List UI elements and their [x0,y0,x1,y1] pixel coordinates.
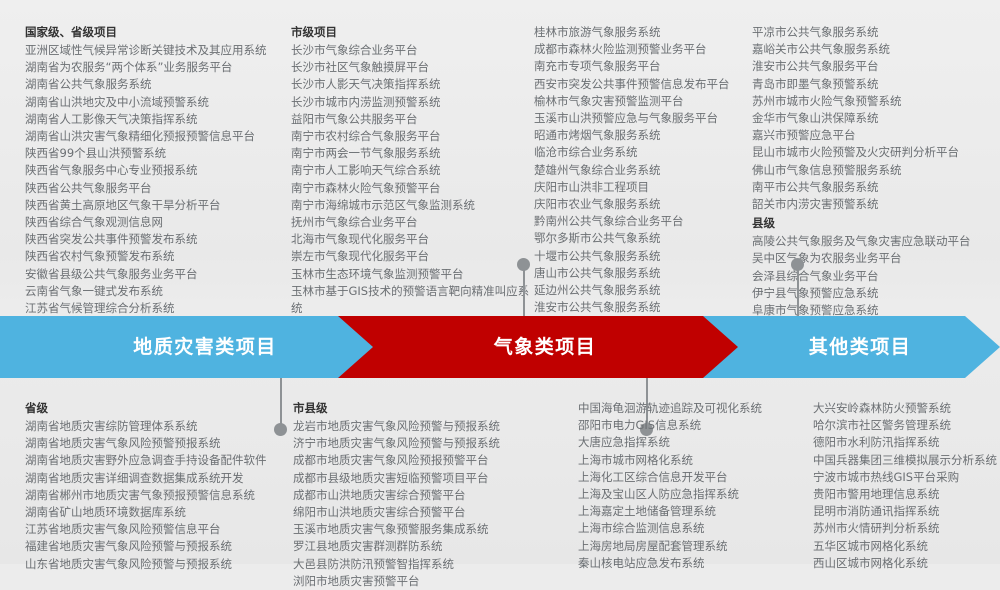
list-item: 大唐应急指挥系统 [578,434,805,451]
list-item: 延边州公共气象服务系统 [534,282,748,299]
list-item: 陕西省综合气象观测信息网 [25,214,285,231]
category-banner: 地质灾害类项目 气象类项目 其他类项目 [0,316,1000,378]
list-item: 江苏省气候管理综合分析系统 [25,300,285,317]
list-item: 成都市县级地质灾害短临预警项目平台 [293,470,570,487]
list-item: 贵阳市警用地理信息系统 [813,486,1000,503]
list-item: 佛山市气象信息预警服务系统 [752,162,1000,179]
list-item: 苏州市火情研判分析系统 [813,520,1000,537]
top-column-municipal: 市级项目 长沙市气象综合业务平台长沙市社区气象触摸屏平台长沙市人影天气决策指挥系… [285,24,530,316]
list-item: 崇左市气象现代化服务平台 [291,248,530,265]
list-item: 江苏省地质灾害气象风险预警信息平台 [25,521,285,538]
list-item: 湖南省矿山地质环境数据库系统 [25,504,285,521]
list-item: 南宁市森林火险气象预警平台 [291,180,530,197]
bottom-column-other-left: 中国海龟洄游轨迹追踪及可视化系统邵阳市电力GIS信息系统大唐应急指挥系统上海市城… [570,400,805,564]
list-item: 哈尔滨市社区警务管理系统 [813,417,1000,434]
list-item: 龙岩市地质灾害气象风险预警与预报系统 [293,418,570,435]
list-item: 金华市气象山洪保障系统 [752,110,1000,127]
list-item: 陕西省99个县山洪预警系统 [25,145,285,162]
column-list: 长沙市气象综合业务平台长沙市社区气象触摸屏平台长沙市人影天气决策指挥系统长沙市城… [291,42,530,334]
list-item: 南平市公共气象服务系统 [752,179,1000,196]
connector-stem [797,268,799,316]
list-item: 湖南省公共气象服务系统 [25,76,285,93]
column-list: 中国海龟洄游轨迹追踪及可视化系统邵阳市电力GIS信息系统大唐应急指挥系统上海市城… [578,400,805,572]
infographic-page: 国家级、省级项目 亚洲区域性气候异常诊断关键技术及其应用系统湖南省为农服务“两个… [0,0,1000,564]
list-item: 陕西省气象服务中心专业预报系统 [25,162,285,179]
list-item: 绵阳市山洪地质灾害综合预警平台 [293,504,570,521]
list-item: 亚洲区域性气候异常诊断关键技术及其应用系统 [25,42,285,59]
column-list: 大兴安岭森林防火预警系统哈尔滨市社区警务管理系统德阳市水利防汛指挥系统中国兵器集… [813,400,1000,572]
list-item: 西山区城市网格化系统 [813,555,1000,572]
list-item: 福建省地质灾害气象风险预警与预报系统 [25,538,285,555]
list-item: 桂林市旅游气象服务系统 [534,24,748,41]
list-item: 大邑县防洪防汛预警智指挥系统 [293,556,570,573]
list-item: 邵阳市电力GIS信息系统 [578,417,805,434]
list-item: 大兴安岭森林防火预警系统 [813,400,1000,417]
list-item: 湖南省地质灾害野外应急调查手持设备配件软件 [25,452,285,469]
banner-label-other: 其他类项目 [735,316,985,378]
list-item: 青岛市即墨气象预警系统 [752,76,1000,93]
bottom-columns-area: 省级 湖南省地质灾害综防管理体系系统湖南省地质灾害气象风险预警预报系统湖南省地质… [0,378,1000,564]
list-item: 宁波市城市热线GIS平台采购 [813,469,1000,486]
list-item: 淮安市公共气象服务系统 [534,299,748,316]
column-list: 亚洲区域性气候异常诊断关键技术及其应用系统湖南省为农服务“两个体系”业务服务平台… [25,42,285,334]
list-item: 玉溪市地质灾害气象预警服务集成系统 [293,521,570,538]
list-item: 十堰市公共气象服务系统 [534,248,748,265]
list-item: 上海嘉定土地储备管理系统 [578,503,805,520]
list-item: 嘉兴市预警应急平台 [752,127,1000,144]
list-item: 罗江县地质灾害群测群防系统 [293,538,570,555]
column-heading: 市县级 [293,400,570,417]
list-item: 上海房地局房屋配套管理系统 [578,538,805,555]
list-item: 安徽省县级公共气象服务业务平台 [25,266,285,283]
list-item: 昭通市烤烟气象服务系统 [534,127,748,144]
list-item: 榆林市气象灾害预警监测平台 [534,93,748,110]
list-item: 庆阳市农业气象服务系统 [534,196,748,213]
list-item: 陕西省黄土高原地区气象干旱分析平台 [25,197,285,214]
list-item: 淮安市公共气象服务平台 [752,58,1000,75]
list-item: 湖南省人工影像天气决策指挥系统 [25,111,285,128]
column-heading: 市级项目 [291,24,530,41]
list-item: 云南省气象一键式发布系统 [25,283,285,300]
column-list-county: 高陵公共气象服务及气象灾害应急联动平台吴中区气象为农服务业务平台会泽县综合气象业… [752,233,1000,319]
list-item: 唐山市公共气象服务系统 [534,265,748,282]
list-item: 上海化工区综合信息开发平台 [578,469,805,486]
bottom-column-city-county: 市县级 龙岩市地质灾害气象风险预警与预报系统济宁市地质灾害气象风险预警与预报系统… [285,400,570,564]
list-item: 嘉峪关市公共气象服务系统 [752,41,1000,58]
list-item: 南宁市两会一节气象服务系统 [291,145,530,162]
list-item: 玉林市生态环境气象监测预警平台 [291,266,530,283]
list-item: 陕西省突发公共事件预警发布系统 [25,231,285,248]
banner-label-meteorology: 气象类项目 [400,316,690,378]
banner-label-geology: 地质灾害类项目 [60,316,350,378]
list-item: 成都市山洪地质灾害综合预警平台 [293,487,570,504]
bottom-column-provincial: 省级 湖南省地质灾害综防管理体系系统湖南省地质灾害气象风险预警预报系统湖南省地质… [0,400,285,564]
list-item: 南宁市海绵城市示范区气象监测系统 [291,197,530,214]
list-item: 长沙市社区气象触摸屏平台 [291,59,530,76]
list-item: 陕西省农村气象预警发布系统 [25,248,285,265]
list-item: 中国海龟洄游轨迹追踪及可视化系统 [578,400,805,417]
list-item: 上海市综合监测信息系统 [578,520,805,537]
column-heading: 省级 [25,400,285,417]
list-item: 济宁市地质灾害气象风险预警与预报系统 [293,435,570,452]
bottom-column-other-right: 大兴安岭森林防火预警系统哈尔滨市社区警务管理系统德阳市水利防汛指挥系统中国兵器集… [805,400,1000,564]
list-item: 成都市地质灾害气象风险预报预警平台 [293,452,570,469]
top-column-municipal-cont: 桂林市旅游气象服务系统成都市森林火险监测预警业务平台南充市专项气象服务平台西安市… [530,24,748,316]
list-item: 长沙市气象综合业务平台 [291,42,530,59]
list-item: 黔南州公共气象综合业务平台 [534,213,748,230]
list-item: 昆山市城市火险预警及火灾研判分析平台 [752,144,1000,161]
list-item: 陕西省公共气象服务平台 [25,180,285,197]
list-item: 中国兵器集团三维模拟展示分析系统 [813,452,1000,469]
list-item: 楚雄州气象综合业务系统 [534,162,748,179]
list-item: 长沙市人影天气决策指挥系统 [291,76,530,93]
list-item: 湖南省地质灾害气象风险预警预报系统 [25,435,285,452]
column-list: 湖南省地质灾害综防管理体系系统湖南省地质灾害气象风险预警预报系统湖南省地质灾害野… [25,418,285,573]
top-columns-area: 国家级、省级项目 亚洲区域性气候异常诊断关键技术及其应用系统湖南省为农服务“两个… [0,0,1000,316]
list-item: 玉林市基于GIS技术的预警语言靶向精准叫应系统 [291,283,530,317]
list-item: 秦山核电站应急发布系统 [578,555,805,572]
list-item: 会泽县综合气象业务平台 [752,268,1000,285]
list-item: 五华区城市网格化系统 [813,538,1000,555]
list-item: 苏州市城市火险气象预警系统 [752,93,1000,110]
list-item: 鄂尔多斯市公共气象系统 [534,230,748,247]
list-item: 上海及宝山区人防应急指挥系统 [578,486,805,503]
list-item: 抚州市气象综合业务平台 [291,214,530,231]
list-item: 浏阳市地质灾害预警平台 [293,573,570,590]
list-item: 成都市森林火险监测预警业务平台 [534,41,748,58]
column-heading-county: 县级 [752,215,1000,232]
top-column-municipal-county: 平凉市公共气象服务系统嘉峪关市公共气象服务系统淮安市公共气象服务平台青岛市即墨气… [748,24,1000,316]
top-column-national-provincial: 国家级、省级项目 亚洲区域性气候异常诊断关键技术及其应用系统湖南省为农服务“两个… [0,24,285,316]
list-item: 昆明市消防通讯指挥系统 [813,503,1000,520]
list-item: 湖南省为农服务“两个体系”业务服务平台 [25,59,285,76]
list-item: 平凉市公共气象服务系统 [752,24,1000,41]
list-item: 临沧市综合业务系统 [534,144,748,161]
list-item: 韶关市内涝灾害预警系统 [752,196,1000,213]
list-item: 伊宁县气象预警应急系统 [752,285,1000,302]
list-item: 长沙市城市内涝监测预警系统 [291,94,530,111]
list-item: 南宁市农村综合气象服务平台 [291,128,530,145]
column-list: 龙岩市地质灾害气象风险预警与预报系统济宁市地质灾害气象风险预警与预报系统成都市地… [293,418,570,590]
list-item: 德阳市水利防汛指挥系统 [813,434,1000,451]
list-item: 湖南省山洪地灾及中小流域预警系统 [25,94,285,111]
list-item: 南充市专项气象服务平台 [534,58,748,75]
list-item: 湖南省郴州市地质灾害气象预报预警信息系统 [25,487,285,504]
list-item: 西安市突发公共事件预警信息发布平台 [534,76,748,93]
column-list: 桂林市旅游气象服务系统成都市森林火险监测预警业务平台南充市专项气象服务平台西安市… [534,24,748,334]
list-item: 湖南省地质灾害综防管理体系系统 [25,418,285,435]
list-item: 益阳市气象公共服务平台 [291,111,530,128]
list-item: 北海市气象现代化服务平台 [291,231,530,248]
column-heading: 国家级、省级项目 [25,24,285,41]
list-item: 玉溪市山洪预警应急与气象服务平台 [534,110,748,127]
list-item: 高陵公共气象服务及气象灾害应急联动平台 [752,233,1000,250]
list-item: 南宁市人工影响天气综合系统 [291,162,530,179]
list-item: 湖南省山洪灾害气象精细化预报预警信息平台 [25,128,285,145]
column-list: 平凉市公共气象服务系统嘉峪关市公共气象服务系统淮安市公共气象服务平台青岛市即墨气… [752,24,1000,213]
list-item: 吴中区气象为农服务业务平台 [752,250,1000,267]
list-item: 庆阳市山洪非工程项目 [534,179,748,196]
list-item: 山东省地质灾害气象风险预警与预报系统 [25,556,285,573]
list-item: 上海市城市网格化系统 [578,452,805,469]
list-item: 湖南省地质灾害详细调查数据集成系统开发 [25,470,285,487]
connector-stem [523,268,525,316]
